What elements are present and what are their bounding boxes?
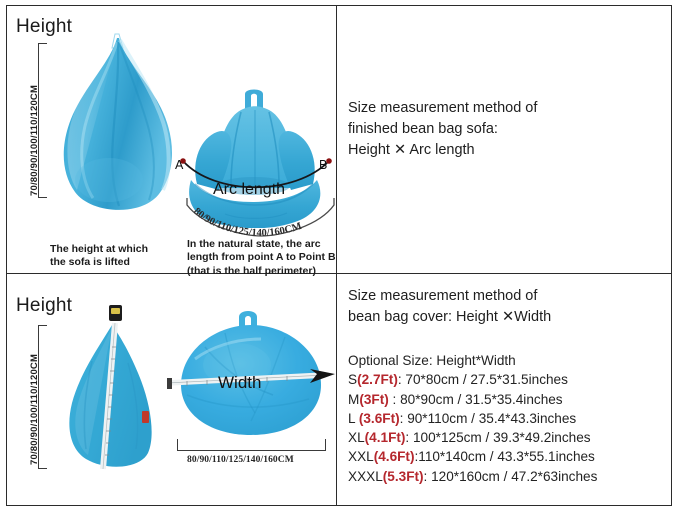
size-sep-m: : [389, 392, 400, 407]
size-name-xl: XL [348, 430, 365, 445]
size-ft-xxxl: (5.3Ft) [383, 469, 424, 484]
size-ft-xxl: (4.6Ft) [374, 449, 415, 464]
size-row-s: S(2.7Ft): 70*80cm / 27.5*31.5inches [348, 370, 597, 389]
width-label: Width [218, 373, 261, 393]
optional-size-list: Optional Size: Height*Width S(2.7Ft): 70… [348, 351, 597, 486]
size-value-s: 70*80cm / 27.5*31.5inches [405, 372, 567, 387]
beanbag-lifted-illustration [49, 30, 189, 230]
size-row-xl: XL(4.1Ft): 100*125cm / 39.3*49.2inches [348, 428, 597, 447]
beanbag-cover-side-illustration [54, 303, 174, 483]
caption-height-lifted: The height at which the sofa is lifted [50, 243, 148, 270]
size-name-xxxl: XXXL [348, 469, 383, 484]
panel-top-left: Height 70/80/90/100/110/120CM [7, 6, 336, 273]
width-dimension-text: 80/90/110/125/140/160CM [187, 455, 294, 465]
size-value-m: 80*90cm / 31.5*35.4inches [400, 392, 562, 407]
point-b-label: B [319, 158, 327, 172]
size-row-xxxl: XXXL(5.3Ft): 120*160cm / 47.2*63inches [348, 467, 597, 486]
size-sep-xl: : [405, 430, 413, 445]
size-value-l: 90*110cm / 35.4*43.3inches [407, 411, 576, 426]
size-value-xl: 100*125cm / 39.3*49.2inches [413, 430, 591, 445]
size-name-l: L [348, 411, 359, 426]
size-sep-xxxl: : [424, 469, 432, 484]
arc-dimension-bracket: 80/90/110/125/140/160CM [181, 196, 341, 238]
height-dimension-bottom: 70/80/90/100/110/120CM [29, 354, 40, 465]
size-name-s: S [348, 372, 357, 387]
size-guide-infographic: Height 70/80/90/100/110/120CM [0, 0, 679, 517]
svg-text:80/90/110/125/140/160CM: 80/90/110/125/140/160CM [191, 206, 303, 238]
size-value-xxl: 110*140cm / 43.3*55.1inches [418, 449, 595, 464]
finished-sofa-method-text: Size measurement method of finished bean… [348, 98, 537, 161]
optional-size-title: Optional Size: Height*Width [348, 351, 597, 370]
size-row-m: M(3Ft) : 80*90cm / 31.5*35.4inches [348, 390, 597, 409]
size-row-xxl: XXL(4.6Ft):110*140cm / 43.3*55.1inches [348, 447, 597, 466]
panel-bottom-right: Size measurement method of bean bag cove… [338, 275, 671, 505]
panel-top-right: Size measurement method of finished bean… [338, 6, 671, 273]
height-dimension-top: 70/80/90/100/110/120CM [29, 85, 40, 196]
width-bracket [177, 439, 326, 451]
size-name-m: M [348, 392, 359, 407]
size-row-l: L (3.6Ft): 90*110cm / 35.4*43.3inches [348, 409, 597, 428]
cover-method-heading: Size measurement method of bean bag cove… [348, 286, 551, 328]
size-value-xxxl: 120*160cm / 47.2*63inches [431, 469, 597, 484]
size-ft-xl: (4.1Ft) [365, 430, 406, 445]
point-a-label: A [175, 158, 183, 172]
size-ft-s: (2.7Ft) [357, 372, 398, 387]
size-ft-l: (3.6Ft) [359, 411, 400, 426]
caption-arc-length: In the natural state, the arc length fro… [187, 238, 336, 278]
size-ft-m: (3Ft) [359, 392, 388, 407]
panel-bottom-left: Height 70/80/90/100/110/120CM [7, 275, 336, 505]
arc-dimension-text: 80/90/110/125/140/160CM [191, 206, 303, 238]
size-name-xxl: XXL [348, 449, 374, 464]
